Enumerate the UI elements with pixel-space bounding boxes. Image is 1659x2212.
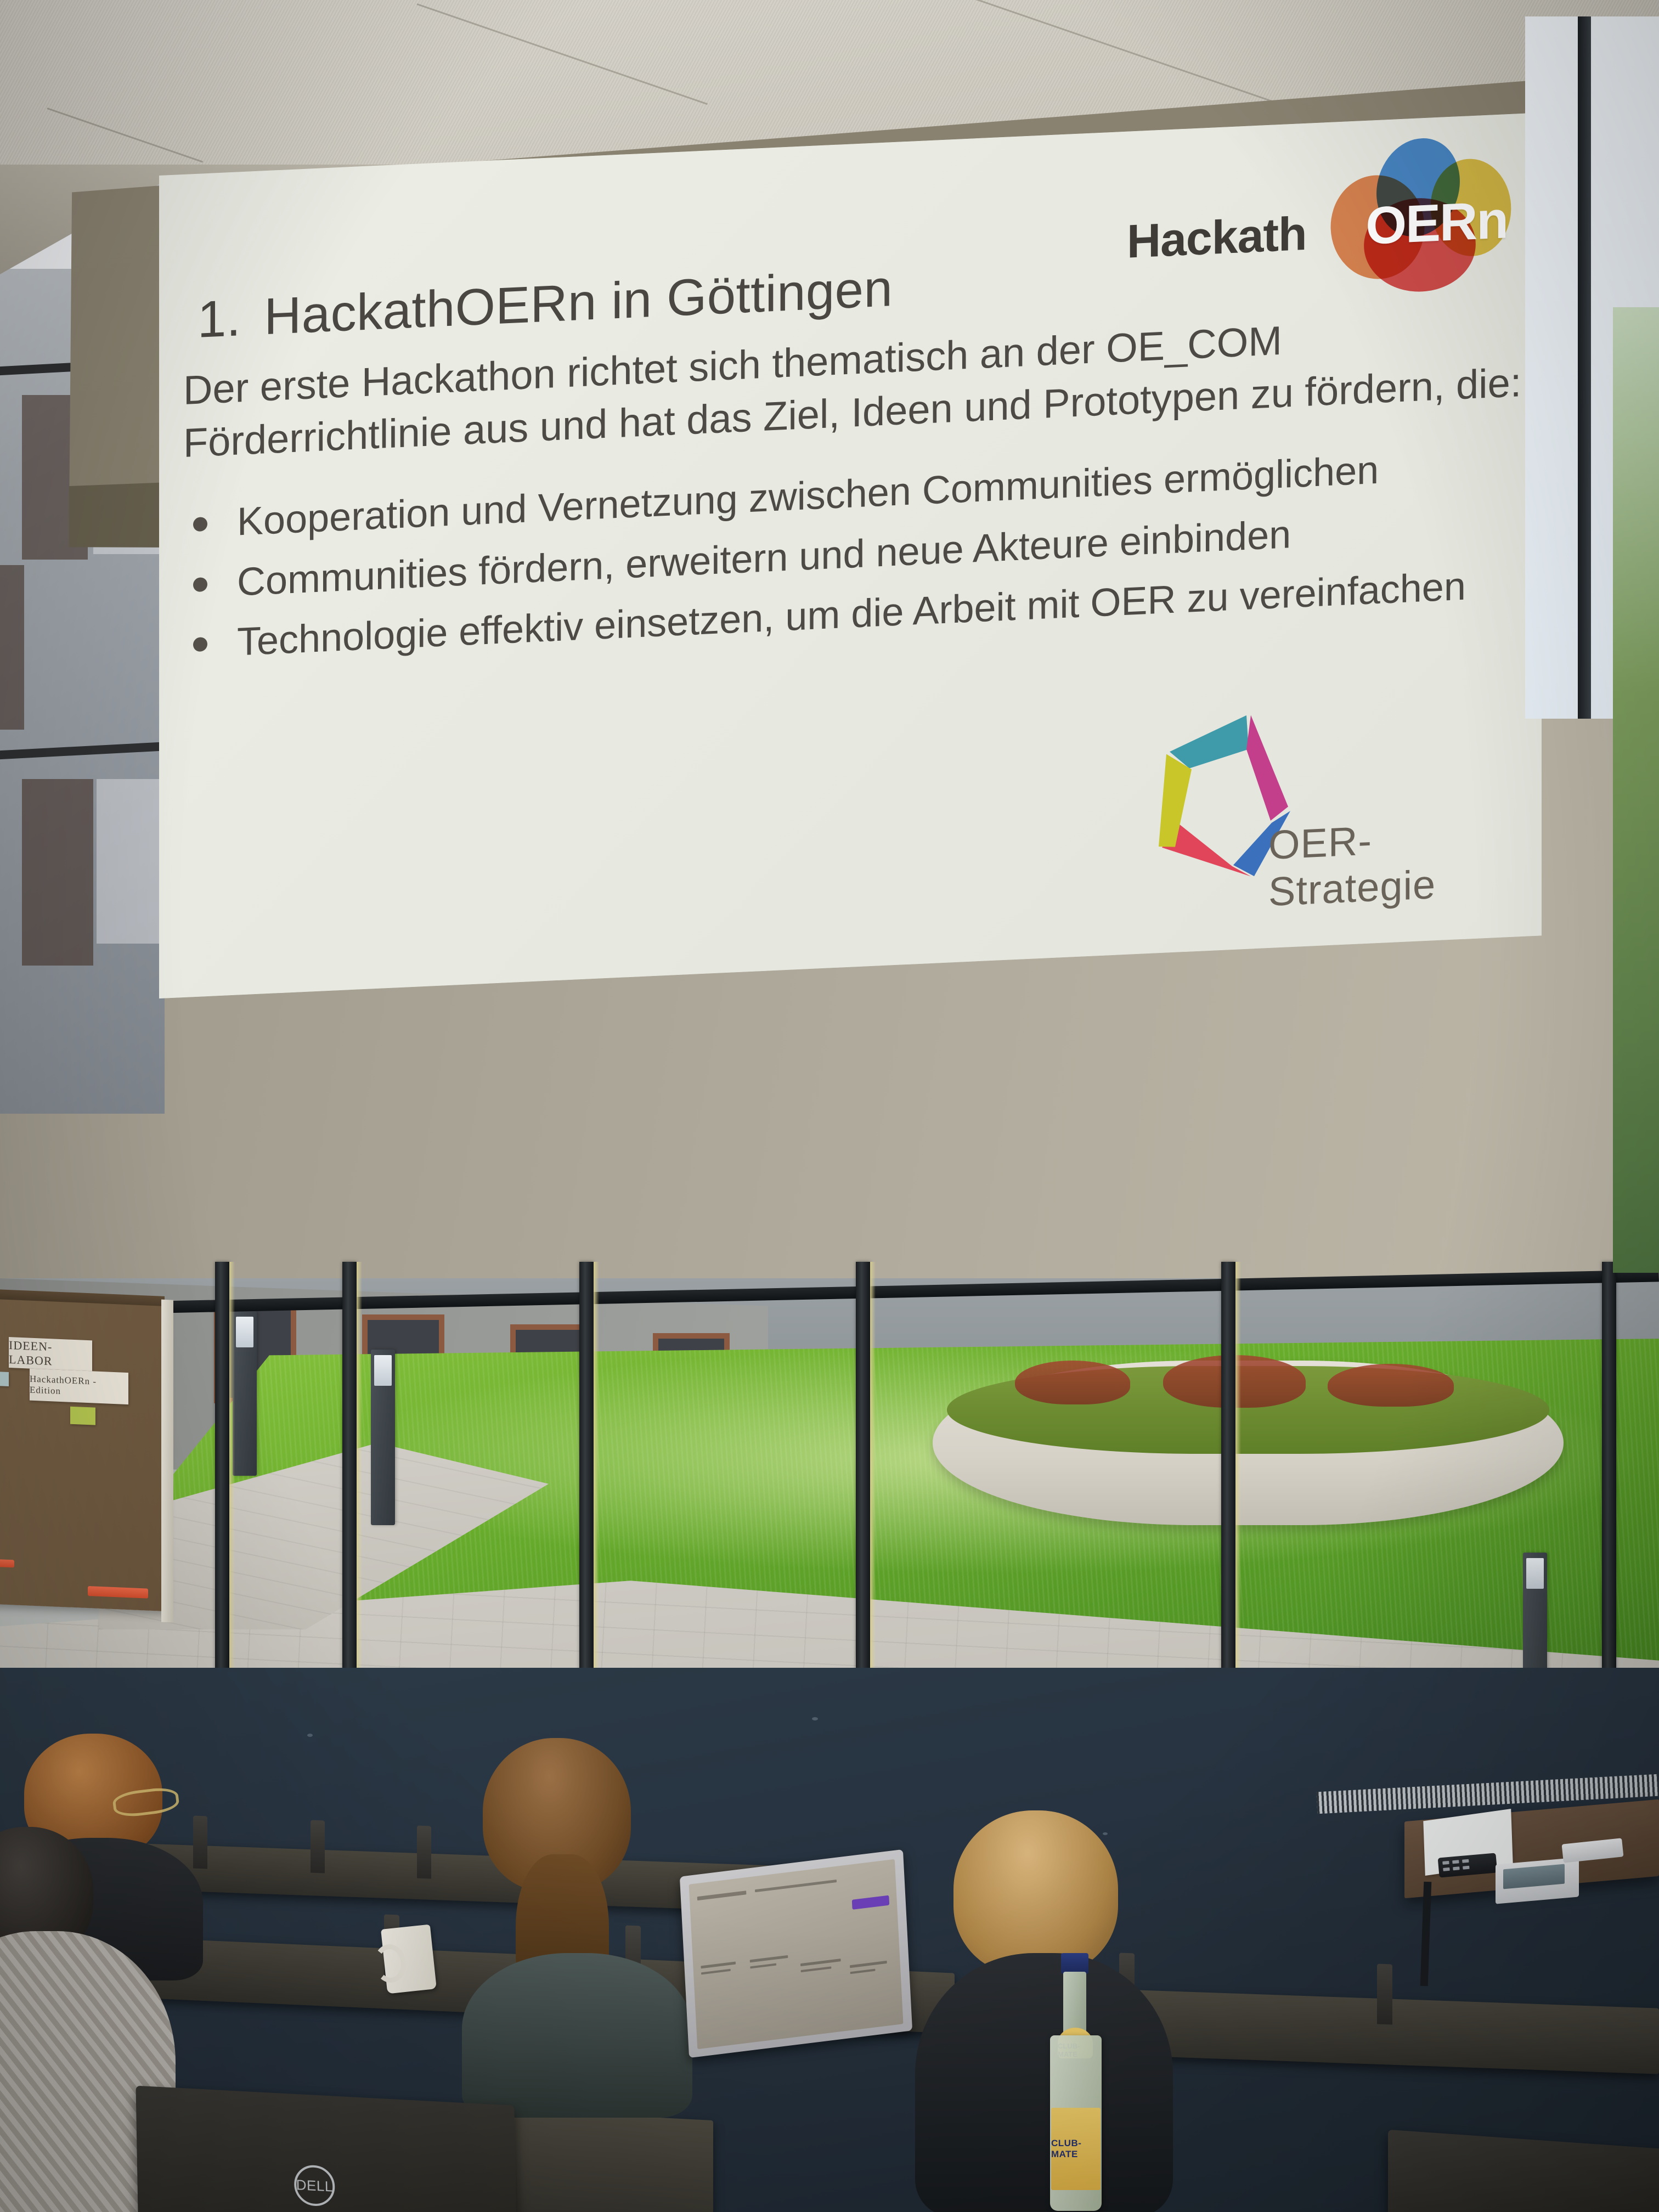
projection-screen: Hackath OERn 1.HackathOERn in Göttingen … (66, 71, 1591, 1223)
planter-shrub (1163, 1355, 1306, 1408)
audience-person-shoulders (462, 1953, 692, 2118)
dell-laptop[interactable]: DELL (136, 2086, 517, 2212)
circular-planter (933, 1361, 1564, 1525)
presentation-slide: Hackath OERn 1.HackathOERn in Göttingen … (159, 112, 1542, 998)
hackathoern-wordmark: Hackath (1127, 207, 1307, 269)
audience-person-head (953, 1810, 1118, 1975)
pinboard-foot (88, 1586, 148, 1599)
bottle-cap (1061, 1953, 1088, 1974)
bottle-label: CLUB-MATE (1051, 2108, 1101, 2190)
photo-scene: Hackath OERn 1.HackathOERn in Göttingen … (0, 0, 1659, 2212)
pinboard-sticky-note (0, 1371, 9, 1386)
oer-strategie-label: OER-Strategie (1268, 811, 1501, 915)
club-mate-bottle[interactable]: CLUB-MATE CLUB-MATE (1042, 1953, 1108, 2211)
seat-divider (311, 1820, 325, 1874)
pinboard-note-ideenlabor: IDEEN-LABOR (9, 1337, 92, 1371)
pinboard-side-frame (161, 1300, 173, 1623)
dell-logo-icon: DELL (294, 2164, 335, 2207)
bullet-dot-icon (193, 577, 207, 592)
planter-shrub (1328, 1364, 1454, 1407)
hackathoern-oern-text: OERn (1365, 190, 1508, 257)
seat-divider (417, 1826, 431, 1879)
right-window-foliage (1613, 307, 1659, 1273)
av-panel-screen (1503, 1864, 1565, 1889)
hackathoern-logo: Hackath OERn (1127, 133, 1511, 293)
bollard-light (371, 1350, 395, 1525)
pinboard-foot (0, 1559, 14, 1568)
seat-divider (1377, 1964, 1392, 2025)
av-control-panel[interactable] (1496, 1857, 1579, 1904)
laptop-screen (689, 1859, 904, 2049)
oer-strategie-logo: OER-Strategie (1139, 672, 1501, 941)
laptop-accent-button (852, 1895, 889, 1910)
bollard-light (233, 1311, 257, 1476)
bottle-neck (1063, 1972, 1086, 2036)
seat-divider (193, 1816, 207, 1869)
right-window-mullion (1578, 16, 1591, 719)
pinboard: IDEEN-LABOR HackathOERn - Edition (0, 1296, 165, 1611)
pinboard-sticky-note (70, 1407, 95, 1425)
planter-shrub (1015, 1361, 1130, 1404)
pinboard-note-edition: HackathOERn - Edition (30, 1369, 128, 1405)
slide-title-number: 1. (198, 289, 241, 348)
laptop-open[interactable] (680, 1849, 912, 2058)
bullet-dot-icon (193, 637, 207, 652)
bullet-dot-icon (193, 517, 207, 532)
